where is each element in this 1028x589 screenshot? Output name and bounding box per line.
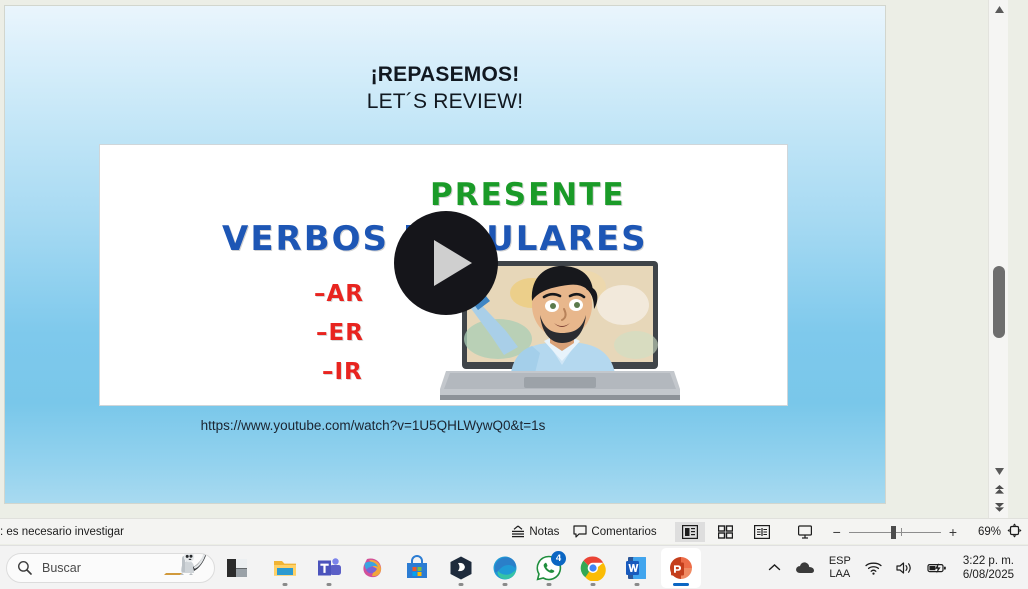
verb-ending-ar: –AR bbox=[314, 281, 364, 307]
comments-button[interactable]: Comentarios bbox=[566, 522, 663, 541]
slide-editing-area: ¡REPASEMOS! LET´S REVIEW! PRESENTE VERBO… bbox=[0, 0, 1008, 518]
search-placeholder: Buscar bbox=[42, 561, 81, 575]
slide-sorter-icon bbox=[718, 525, 733, 539]
running-indicator bbox=[547, 583, 552, 586]
triangle-down-icon bbox=[995, 468, 1004, 475]
taskbar-item-file-explorer[interactable] bbox=[265, 548, 305, 588]
taskbar-item-microsoft-edge[interactable] bbox=[485, 548, 525, 588]
whatsapp-badge: 4 bbox=[551, 551, 566, 566]
zoom-slider-midpoint bbox=[901, 528, 902, 536]
video-url-text[interactable]: https://www.youtube.com/watch?v=1U5QHLWy… bbox=[5, 418, 885, 433]
embedded-video[interactable]: PRESENTE VERBOS REGULARES –AR –ER –IR bbox=[99, 144, 788, 406]
taskbar-item-clipchamp[interactable] bbox=[441, 548, 481, 588]
fit-to-window-icon bbox=[1007, 523, 1022, 538]
clock-date: 6/08/2025 bbox=[963, 568, 1014, 582]
windows-taskbar: Buscar bbox=[0, 545, 1028, 589]
slide-title-line-2: LET´S REVIEW! bbox=[5, 88, 885, 115]
language-indicator[interactable]: ESP LAA bbox=[823, 555, 857, 581]
store-icon bbox=[404, 555, 430, 581]
scroll-down-button[interactable] bbox=[989, 462, 1009, 480]
taskbar-item-google-chrome[interactable] bbox=[573, 548, 613, 588]
running-indicator bbox=[459, 583, 464, 586]
speaker-icon bbox=[896, 561, 913, 575]
powerpoint-icon bbox=[668, 555, 694, 581]
running-indicator bbox=[591, 583, 596, 586]
task-view-button[interactable] bbox=[221, 550, 253, 586]
task-view-icon bbox=[226, 557, 248, 579]
volume-button[interactable] bbox=[890, 557, 919, 579]
normal-view-button[interactable] bbox=[675, 522, 705, 542]
taskbar-item-whatsapp[interactable]: 4 bbox=[529, 548, 569, 588]
zoom-slider[interactable] bbox=[849, 526, 941, 538]
running-indicator bbox=[283, 583, 288, 586]
chevron-up-icon bbox=[768, 563, 781, 572]
presentation-screen-icon bbox=[797, 525, 813, 539]
wifi-icon bbox=[865, 561, 882, 575]
taskbar-item-microsoft-powerpoint[interactable] bbox=[661, 548, 701, 588]
clock-time: 3:22 p. m. bbox=[963, 554, 1014, 568]
word-icon bbox=[624, 555, 650, 581]
edge-icon bbox=[492, 555, 518, 581]
next-slide-button[interactable] bbox=[989, 498, 1009, 516]
battery-charging-icon bbox=[927, 561, 947, 575]
running-indicator bbox=[503, 583, 508, 586]
previous-slide-button[interactable] bbox=[989, 480, 1009, 498]
slide-title: ¡REPASEMOS! LET´S REVIEW! bbox=[5, 61, 885, 115]
scroll-up-button[interactable] bbox=[989, 0, 1009, 18]
verb-ending-er: –ER bbox=[316, 320, 364, 346]
comment-bubble-icon bbox=[573, 525, 587, 538]
cloud-icon bbox=[795, 561, 815, 575]
language-line-1: ESP bbox=[829, 555, 851, 568]
copilot-icon bbox=[360, 555, 386, 581]
search-input[interactable]: Buscar bbox=[6, 553, 215, 583]
battery-button[interactable] bbox=[921, 557, 953, 579]
verb-ending-ir: –IR bbox=[322, 359, 363, 385]
video-heading-presente: PRESENTE bbox=[430, 177, 626, 213]
reading-view-button[interactable] bbox=[747, 522, 777, 542]
taskbar-item-microsoft-word[interactable] bbox=[617, 548, 657, 588]
teams-icon bbox=[316, 555, 342, 581]
video-thumbnail: PRESENTE VERBOS REGULARES –AR –ER –IR bbox=[100, 145, 787, 405]
status-message: : es necesario investigar bbox=[0, 526, 124, 538]
show-hidden-icons-button[interactable] bbox=[762, 559, 787, 576]
clipchamp-icon bbox=[448, 555, 474, 581]
powerpoint-window: ¡REPASEMOS! LET´S REVIEW! PRESENTE VERBO… bbox=[0, 0, 1028, 589]
scrollbar-thumb[interactable] bbox=[993, 266, 1005, 338]
slide-canvas[interactable]: ¡REPASEMOS! LET´S REVIEW! PRESENTE VERBO… bbox=[4, 5, 886, 504]
taskbar-item-microsoft-store[interactable] bbox=[397, 548, 437, 588]
double-chevron-down-icon bbox=[994, 503, 1005, 512]
normal-view-icon bbox=[682, 525, 698, 539]
status-bar: : es necesario investigar Notas Comentar… bbox=[0, 518, 1028, 544]
play-button[interactable] bbox=[394, 211, 498, 315]
reading-view-icon bbox=[754, 525, 770, 539]
zoom-slider-handle[interactable] bbox=[891, 526, 896, 539]
onedrive-button[interactable] bbox=[789, 557, 821, 579]
notes-label: Notas bbox=[529, 526, 559, 538]
play-icon bbox=[434, 240, 472, 286]
taskbar-app-icons: 4 bbox=[265, 548, 701, 588]
wifi-button[interactable] bbox=[859, 557, 888, 579]
notes-icon bbox=[511, 525, 525, 538]
language-line-2: LAA bbox=[829, 568, 850, 581]
taskbar-item-copilot[interactable] bbox=[353, 548, 393, 588]
notes-button[interactable]: Notas bbox=[504, 522, 566, 541]
search-icon bbox=[17, 560, 32, 575]
running-indicator bbox=[635, 583, 640, 586]
triangle-up-icon bbox=[995, 6, 1004, 13]
folder-icon bbox=[272, 555, 298, 581]
slide-sorter-view-button[interactable] bbox=[711, 522, 741, 542]
fit-slide-to-window-button[interactable] bbox=[1001, 523, 1028, 541]
zoom-level-label: 69% bbox=[967, 526, 1001, 538]
slideshow-view-button[interactable] bbox=[790, 522, 820, 542]
lemur-icon bbox=[162, 553, 208, 582]
zoom-in-button[interactable]: + bbox=[947, 524, 959, 540]
view-buttons-group bbox=[672, 522, 780, 542]
zoom-out-button[interactable]: − bbox=[831, 524, 843, 540]
taskbar-item-microsoft-teams[interactable] bbox=[309, 548, 349, 588]
vertical-scrollbar[interactable] bbox=[988, 0, 1008, 518]
video-url-label: https://www.youtube.com/watch?v=1U5QHLWy… bbox=[201, 418, 546, 433]
chrome-icon bbox=[580, 555, 606, 581]
double-chevron-up-icon bbox=[994, 485, 1005, 494]
zoom-controls: − + bbox=[831, 524, 959, 540]
running-indicator bbox=[327, 583, 332, 586]
system-tray: ESP LAA bbox=[762, 554, 1028, 582]
active-indicator bbox=[673, 583, 689, 586]
comments-label: Comentarios bbox=[591, 526, 656, 538]
clock[interactable]: 3:22 p. m. 6/08/2025 bbox=[955, 554, 1020, 582]
slide-title-line-1: ¡REPASEMOS! bbox=[5, 61, 885, 88]
scrollbar-track[interactable] bbox=[989, 18, 1009, 462]
